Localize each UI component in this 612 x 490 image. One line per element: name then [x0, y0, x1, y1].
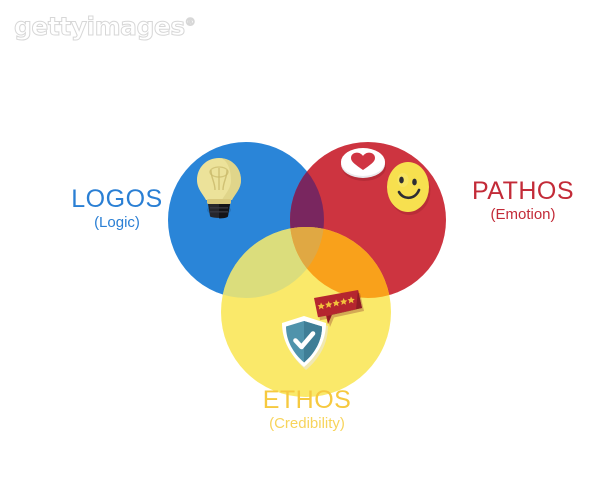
label-pathos-subtitle: (Emotion) — [444, 207, 602, 223]
label-ethos: ETHOS (Credibility) — [226, 387, 388, 432]
label-logos-subtitle: (Logic) — [44, 215, 190, 231]
label-logos-title: LOGOS — [44, 186, 190, 213]
heart-icon — [341, 148, 386, 181]
label-ethos-subtitle: (Credibility) — [226, 416, 388, 432]
label-ethos-title: ETHOS — [226, 387, 388, 414]
label-logos: LOGOS (Logic) — [44, 186, 190, 231]
diagram-canvas: gettyimages® — [0, 0, 612, 490]
label-pathos: PATHOS (Emotion) — [444, 178, 602, 223]
label-pathos-title: PATHOS — [444, 178, 602, 205]
